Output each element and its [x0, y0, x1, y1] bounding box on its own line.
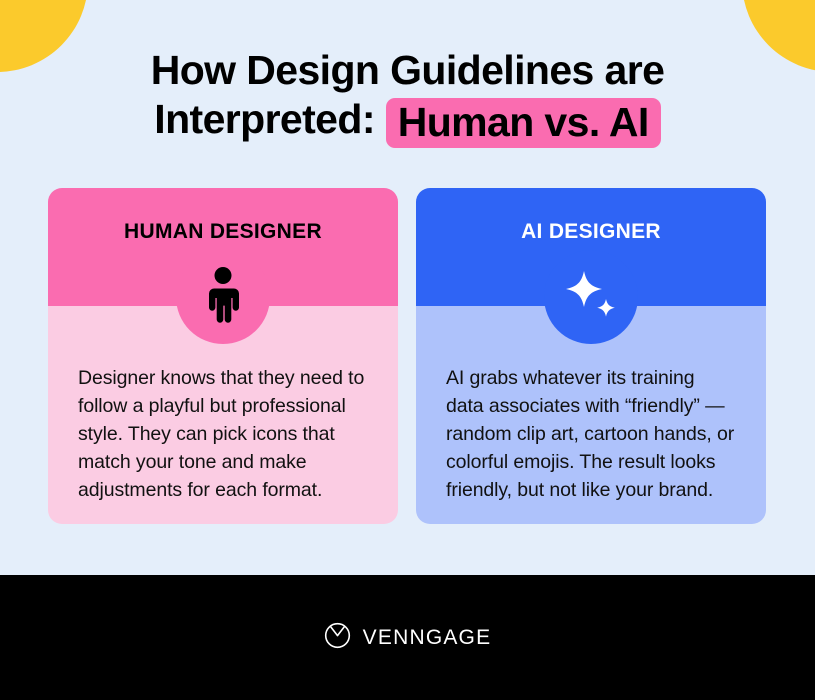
card-human-header: HUMAN DESIGNER [48, 188, 398, 306]
brand-name: VENNGAGE [363, 626, 492, 650]
sparkle-icon [563, 269, 619, 326]
card-ai-designer[interactable]: AI DESIGNER AI grabs whatever its traini… [416, 188, 766, 524]
title-highlight: Human vs. AI [386, 98, 661, 148]
person-icon [206, 267, 240, 328]
card-human-text: Designer knows that they need to follow … [78, 364, 368, 504]
venngage-logo-icon [324, 622, 351, 654]
footer-bar: VENNGAGE [0, 575, 815, 700]
title-line-2: Interpreted: Human vs. AI [0, 95, 815, 145]
comparison-cards: HUMAN DESIGNER Designer knows that they … [48, 188, 766, 524]
card-ai-icon-bubble [544, 250, 638, 344]
card-ai-text: AI grabs whatever its training data asso… [446, 364, 736, 504]
card-ai-heading: AI DESIGNER [521, 220, 661, 244]
card-human-icon-bubble [176, 250, 270, 344]
card-ai-header: AI DESIGNER [416, 188, 766, 306]
title-line-1: How Design Guidelines are [0, 46, 815, 95]
title-prefix: Interpreted: [154, 96, 375, 142]
card-human-designer[interactable]: HUMAN DESIGNER Designer knows that they … [48, 188, 398, 524]
card-human-heading: HUMAN DESIGNER [124, 220, 322, 244]
page-title: How Design Guidelines are Interpreted: H… [0, 46, 815, 145]
